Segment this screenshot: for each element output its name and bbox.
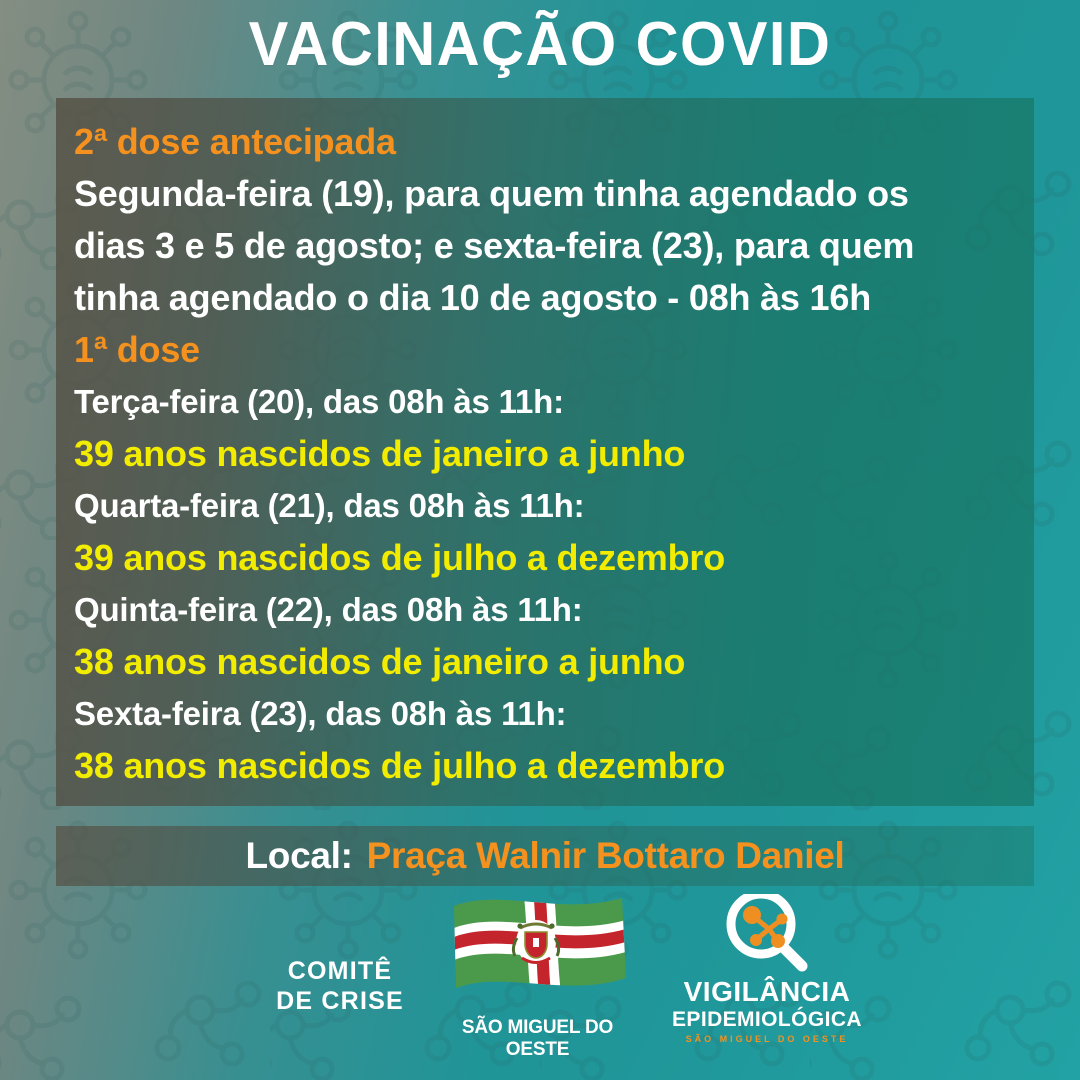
schedule-day-when-1: Terça-feira (20), das 08h às 11h: [72,376,1018,428]
poster-canvas: VACINAÇÃO COVID 2ª dose antecipada Segun… [0,0,1080,1080]
flag-caption: SÃO MIGUEL DO OESTE [440,1017,635,1061]
schedule-day-who-2: 39 anos nascidos de julho a dezembro [72,532,1018,584]
schedule-day-when-2: Quarta-feira (21), das 08h às 11h: [72,480,1018,532]
schedule-day-who-1: 39 anos nascidos de janeiro a junho [72,428,1018,480]
page-title: VACINAÇÃO COVID [22,8,1059,82]
schedule-day-who-4: 38 anos nascidos de julho a dezembro [72,740,1018,792]
comite-line-1: COMITÊ [255,956,425,986]
vigilancia-epidemiologica-logo: VIGILÂNCIA EPIDEMIOLÓGICA SÃO MIGUEL DO … [672,894,862,1046]
comite-line-2: DE CRISE [255,986,425,1016]
location-label: Local: [246,835,353,877]
sao-miguel-do-oeste-flag-logo: SÃO MIGUEL DO OESTE [440,890,635,1061]
schedule-day-when-3: Quinta-feira (22), das 08h às 11h: [72,584,1018,636]
section-2nd-dose-line-3: tinha agendado o dia 10 de agosto - 08h … [72,272,1018,324]
section-heading-1st-dose: 1ª dose [72,324,1018,376]
schedule-day-when-4: Sexta-feira (23), das 08h às 11h: [72,688,1018,740]
location-band: Local: Praça Walnir Bottaro Daniel [56,826,1034,886]
section-2nd-dose-line-1: Segunda-feira (19), para quem tinha agen… [72,168,1018,220]
footer: COMITÊ DE CRISE [0,890,1080,1080]
location-value: Praça Walnir Bottaro Daniel [367,835,845,877]
magnifying-glass-molecule-icon [672,894,862,972]
section-2nd-dose-line-2: dias 3 e 5 de agosto; e sexta-feira (23)… [72,220,1018,272]
vigilancia-line-2: EPIDEMIOLÓGICA [672,1007,862,1032]
schedule-panel: 2ª dose antecipada Segunda-feira (19), p… [56,98,1034,806]
municipal-flag-icon [440,890,635,1010]
section-heading-2nd-dose: 2ª dose antecipada [72,116,1018,168]
vigilancia-line-3: SÃO MIGUEL DO OESTE [672,1032,862,1046]
schedule-day-who-3: 38 anos nascidos de janeiro a junho [72,636,1018,688]
comite-de-crise-logo: COMITÊ DE CRISE [255,956,425,1016]
vigilancia-line-1: VIGILÂNCIA [672,977,862,1007]
